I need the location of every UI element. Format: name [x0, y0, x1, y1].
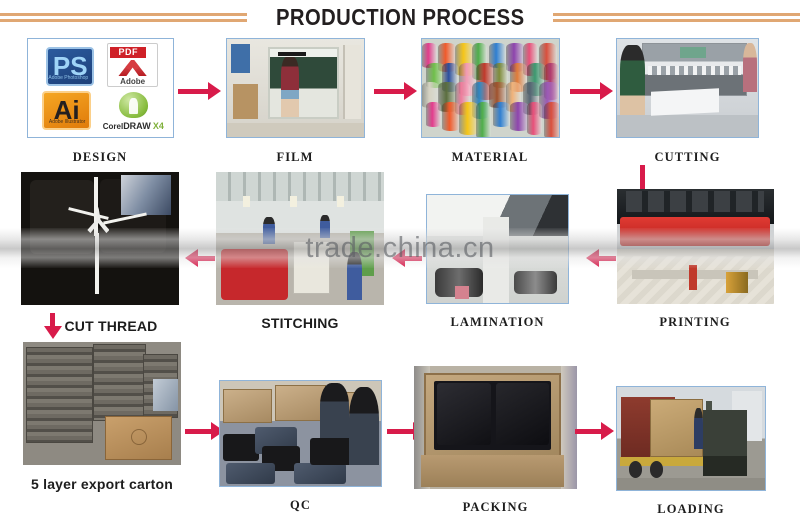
qc-carton-2 [275, 385, 327, 421]
step-cell-design[interactable]: PS Adobe Photoshop PDF Adobe Ai Adobe Il… [25, 38, 175, 165]
arrow-head [392, 249, 405, 267]
arrow-shaft [197, 256, 215, 261]
step-cell-packing[interactable]: PACKING [413, 366, 578, 515]
coreldraw-balloon-icon [119, 92, 148, 119]
loading-wheel-1 [629, 461, 642, 477]
step-image-packing [414, 366, 577, 489]
qc-bag-black-3 [310, 438, 352, 465]
fabric-roll [493, 102, 510, 127]
arrow-shaft [387, 429, 414, 434]
arrow-cut-thread-to-carton [43, 313, 63, 339]
title-rule-right [553, 13, 800, 22]
qc-carton-1 [223, 389, 271, 423]
cutting-paper-stack [651, 88, 719, 115]
cutting-floor [617, 115, 758, 137]
corel-word-a: Corel [103, 122, 123, 131]
fabric-roll [544, 102, 560, 138]
film-board-panel [233, 84, 258, 119]
step-image-printing [617, 189, 774, 304]
carton-stack-2 [93, 344, 147, 420]
page-header: PRODUCTION PROCESS [0, 0, 800, 34]
arrow-shaft [570, 89, 601, 94]
step-cell-lamination[interactable]: LAMINATION [425, 194, 570, 330]
carton-single-box [105, 416, 171, 460]
arrow-head [404, 82, 417, 100]
step-cell-cut-thread[interactable]: CUT THREAD [20, 172, 180, 339]
forklift-icon [703, 410, 747, 476]
arrow-head [44, 326, 62, 339]
step-image-design: PS Adobe Photoshop PDF Adobe Ai Adobe Il… [27, 38, 174, 138]
cut-thread-label-row: CUT THREAD [43, 313, 158, 339]
step-cell-loading[interactable]: LOADING [615, 386, 767, 517]
stitching-worker-3 [347, 252, 362, 300]
qc-inspector-1 [320, 383, 349, 438]
packing-bag-1 [437, 383, 491, 445]
arrow-shaft [404, 256, 422, 261]
loading-worker [694, 408, 703, 449]
film-wall-board [231, 44, 250, 73]
pdf-swoosh-icon [118, 60, 146, 77]
arrow-printing-to-lamination [586, 249, 616, 267]
cutting-screen [680, 47, 705, 58]
cutting-blade-row [648, 66, 741, 75]
arrow-stitching-to-cut-thread [185, 249, 215, 267]
photoshop-logo-icon: PS Adobe Photoshop [46, 47, 94, 86]
film-worker [281, 57, 299, 118]
film-cabinet [343, 45, 361, 119]
printing-roller-bank [626, 191, 764, 212]
step-cell-cutting[interactable]: CUTTING [615, 38, 760, 165]
step-label-packing: PACKING [463, 500, 529, 515]
illustrator-logo-icon: Ai Adobe Illustrator [42, 91, 91, 130]
arrow-shaft [575, 429, 602, 434]
page-title: PRODUCTION PROCESS [276, 4, 525, 31]
step-cell-film[interactable]: FILM [225, 38, 365, 165]
arrow-design-to-film [178, 82, 222, 100]
cut-thread-bag-left [30, 180, 93, 254]
step-image-carton [23, 342, 181, 465]
arrow-shaft [50, 313, 55, 327]
arrow-shaft [598, 256, 616, 261]
qc-bag-blue-3 [294, 463, 346, 484]
stitching-ceiling [216, 172, 384, 201]
step-image-stitching [216, 172, 384, 305]
stitching-red-fabric [221, 249, 288, 300]
loading-ground [617, 478, 765, 490]
step-image-qc [219, 380, 382, 487]
arrow-lamination-to-stitching [392, 249, 422, 267]
printing-tool [726, 272, 748, 293]
corel-word-c: X4 [153, 121, 164, 131]
cut-thread-fabric [121, 175, 172, 215]
arrow-head [185, 249, 198, 267]
stitching-lamp-1 [243, 196, 250, 207]
stitching-lamp-3 [337, 196, 344, 207]
step-label-printing: PRINTING [659, 315, 730, 330]
printing-handle [689, 265, 697, 290]
printing-red-fabric [620, 217, 771, 247]
fabric-roll [426, 102, 441, 127]
step-cell-qc[interactable]: QC [218, 380, 383, 513]
pdf-logo-icon: PDF Adobe [107, 43, 158, 87]
step-cell-stitching[interactable]: STITCHING [215, 172, 385, 331]
title-rule-left [0, 13, 247, 22]
step-image-cut-thread [21, 172, 179, 305]
carton-cloth [153, 379, 178, 411]
step-cell-printing[interactable]: PRINTING [615, 189, 775, 330]
step-image-loading [616, 386, 766, 491]
arrow-film-to-material [374, 82, 418, 100]
step-image-lamination [426, 194, 569, 304]
step-cell-material[interactable]: MATERIAL [420, 38, 560, 165]
lamination-pillar [483, 217, 508, 303]
arrow-head [586, 249, 599, 267]
cut-thread-strand-4 [95, 233, 99, 294]
arrow-shaft [374, 89, 405, 94]
step-label-cut-thread: CUT THREAD [65, 318, 158, 334]
film-floor [227, 123, 364, 137]
qc-inspector-2 [349, 387, 380, 465]
cutting-worker [620, 45, 645, 116]
qc-bag-black-1 [223, 434, 258, 461]
arrow-head [208, 82, 221, 100]
stitching-worker-1 [263, 217, 275, 244]
film-machine-icon [268, 47, 339, 120]
stitching-lamp-2 [290, 196, 297, 207]
step-label-stitching: STITCHING [261, 315, 338, 331]
step-cell-carton[interactable]: 5 layer export carton [22, 342, 182, 492]
step-label-design: DESIGN [73, 150, 128, 165]
arrow-head [601, 422, 614, 440]
illustrator-sub: Adobe Illustrator [49, 119, 85, 125]
lamination-roll-right [514, 271, 556, 295]
packing-bag-2 [496, 383, 550, 445]
arrow-material-to-cutting [570, 82, 614, 100]
packing-carton-flap [421, 455, 564, 487]
carton-stack-1 [26, 347, 92, 443]
cutting-worker-2 [743, 43, 757, 92]
step-label-film: FILM [276, 150, 313, 165]
arrow-shaft [178, 89, 209, 94]
step-image-cutting [616, 38, 759, 138]
corel-word-b: DRAW [123, 121, 151, 131]
arrow-head [600, 82, 613, 100]
photoshop-sub: Adobe Photoshop [48, 75, 88, 81]
arrow-packing-to-loading [575, 422, 615, 440]
fabric-roll [527, 102, 542, 135]
qc-bag-blue-2 [226, 463, 274, 484]
process-grid: PS Adobe Photoshop PDF Adobe Ai Adobe Il… [0, 34, 800, 515]
step-label-material: MATERIAL [452, 150, 529, 165]
step-label-qc: QC [290, 498, 311, 513]
fabric-roll [442, 102, 459, 131]
lamination-pink-spool [455, 286, 469, 299]
pdf-sub: Adobe [120, 77, 145, 86]
fabric-roll [476, 102, 491, 138]
pdf-tag: PDF [110, 47, 146, 58]
step-label-lamination: LAMINATION [450, 315, 544, 330]
loading-wheel-2 [650, 461, 663, 477]
step-image-film [226, 38, 365, 138]
step-label-cutting: CUTTING [654, 150, 720, 165]
coreldraw-wordmark: CorelDRAW X4 [103, 121, 164, 131]
step-label-carton: 5 layer export carton [31, 476, 173, 492]
step-image-material [421, 38, 560, 138]
arrow-shaft [185, 429, 212, 434]
sewing-machine-icon [293, 241, 330, 294]
coreldraw-logo-icon: CorelDRAW X4 [103, 90, 164, 133]
stitching-worker-2 [320, 215, 330, 239]
